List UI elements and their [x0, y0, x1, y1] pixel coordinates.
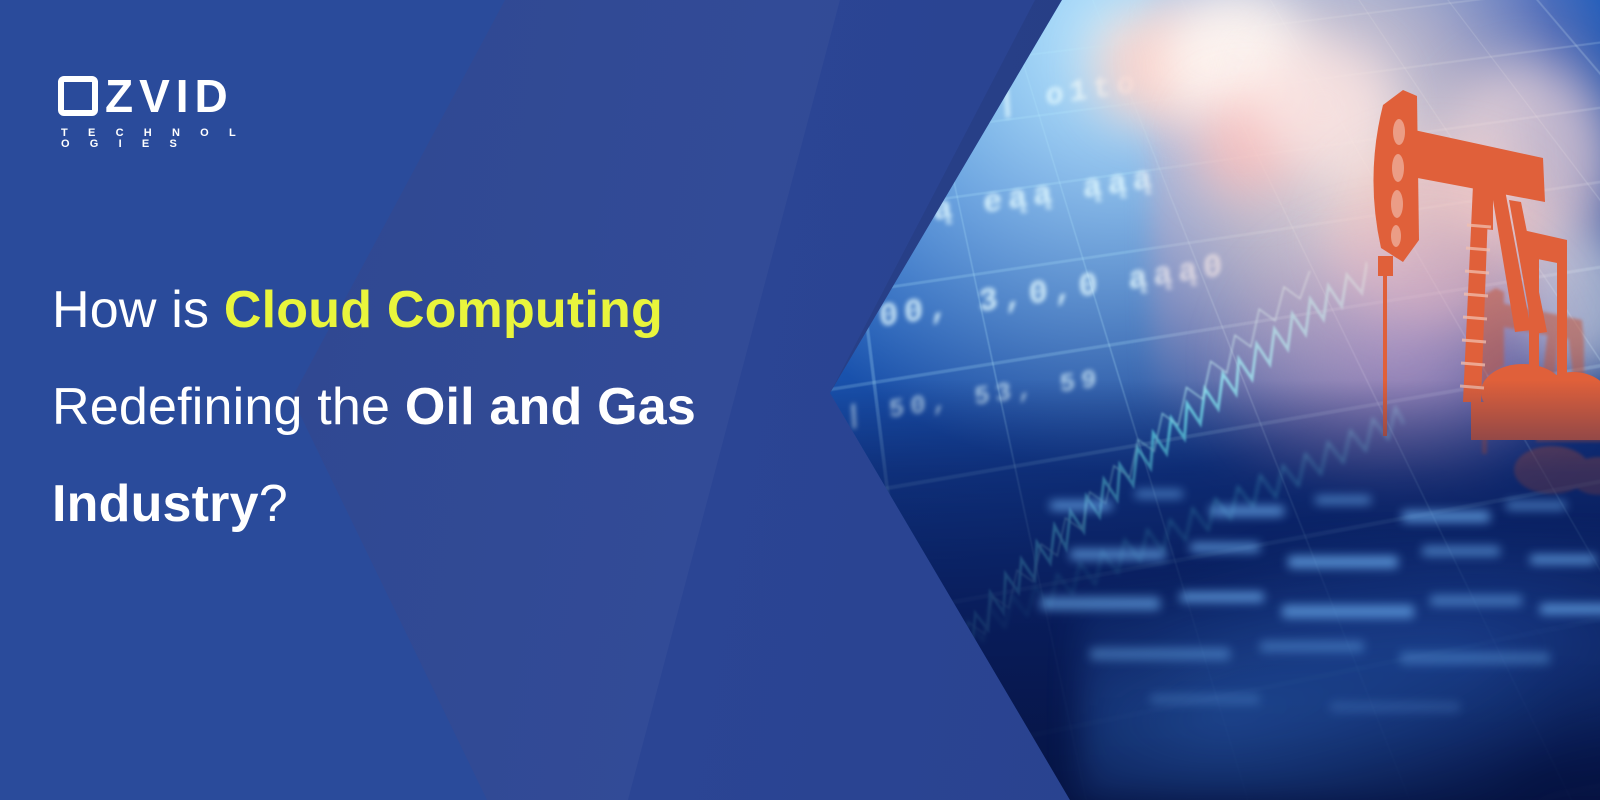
headline-line-1: How is Cloud Computing [52, 262, 812, 359]
banner: ofto | | o1to e1Зą,0 ą eąą ąąą 0ą 00, 3,… [0, 0, 1600, 800]
logo-letters: ZVID [105, 73, 234, 119]
headline-segment-strong: Oil and Gas [405, 378, 696, 436]
page-title: How is Cloud Computing Redefining the Oi… [52, 262, 812, 553]
headline-segment-strong: Industry [52, 475, 259, 533]
headline-segment: How is [52, 281, 224, 339]
logo-tagline: T E C H N O L O G I E S [58, 128, 270, 150]
headline-line-3: Industry? [52, 456, 812, 553]
rounded-square-outline-icon [58, 76, 98, 116]
photo-industrial-lights [1030, 430, 1600, 760]
headline-segment-accent: Cloud Computing [224, 281, 663, 339]
logo-wordmark: ZVID [58, 73, 270, 119]
logo[interactable]: ZVID T E C H N O L O G I E S [58, 73, 270, 150]
headline-segment: ? [259, 475, 288, 533]
headline-segment: Redefining the [52, 378, 405, 436]
headline-line-2: Redefining the Oil and Gas [52, 359, 812, 456]
